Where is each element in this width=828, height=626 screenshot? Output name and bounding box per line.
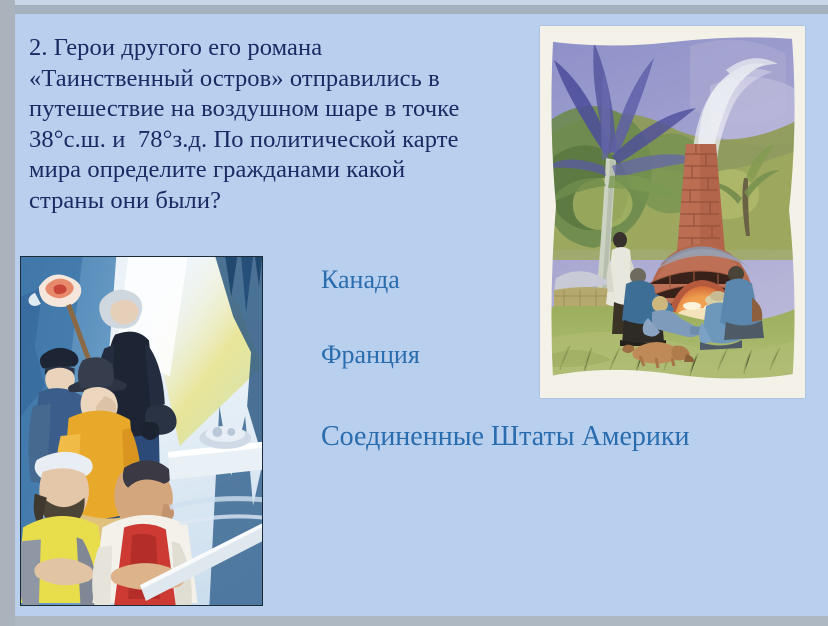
question-line: путешествие на воздушном шаре в точке	[29, 94, 529, 125]
question-text: 2. Герои другого его романа «Таинственны…	[29, 33, 529, 216]
island-kiln-artwork	[540, 26, 805, 398]
answer-option-kanada[interactable]: Канада	[321, 265, 400, 295]
answer-option-usa[interactable]: Соединенные Штаты Америки	[321, 422, 689, 452]
cave-explorers-artwork	[21, 257, 262, 605]
slide-canvas: 2. Герои другого его романа «Таинственны…	[0, 0, 828, 626]
question-line: 38°с.ш. и 78°з.д. По политической карте	[29, 125, 529, 156]
cave-explorers-illustration	[20, 256, 263, 606]
frame-left-band	[0, 0, 15, 626]
question-line: «Таинственный остров» отправились в	[29, 64, 529, 95]
frame-top-band	[15, 5, 828, 14]
frame-bottom-band	[15, 616, 828, 626]
island-kiln-watercolor	[540, 26, 805, 398]
question-line: страны они были?	[29, 186, 529, 217]
question-line: мира определите гражданами какой	[29, 155, 529, 186]
answer-option-franciya[interactable]: Франция	[321, 340, 420, 370]
question-line: 2. Герои другого его романа	[29, 33, 529, 64]
